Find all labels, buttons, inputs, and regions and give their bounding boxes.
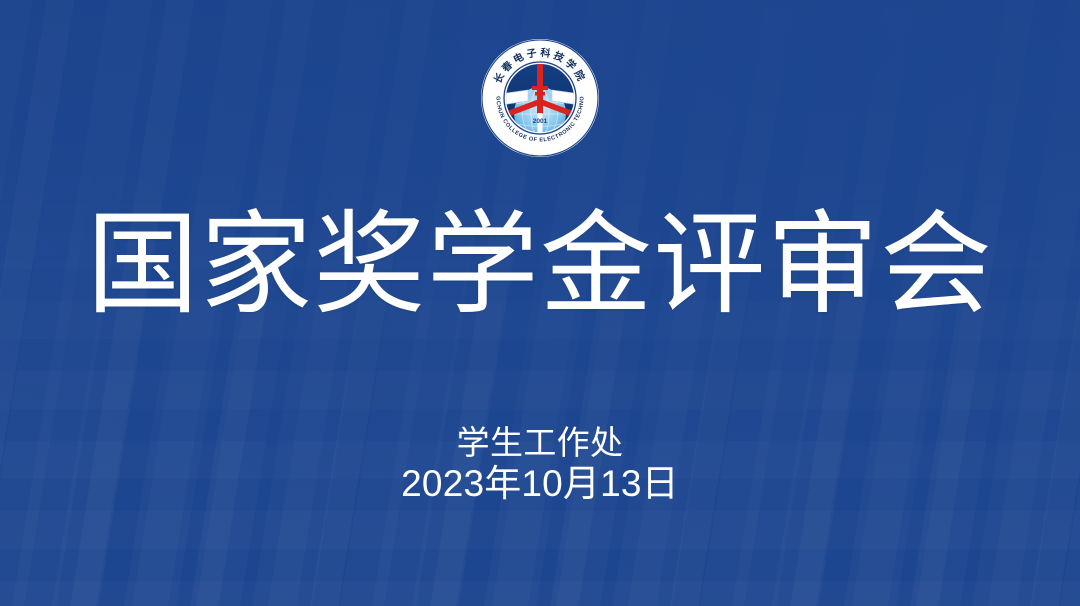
page-title: 国家奖学金评审会	[0, 206, 1080, 325]
school-logo: 2001 长春电子科技学院 CHANGCHUN COLLEGE OF ELECT…	[480, 38, 600, 158]
logo-year: 2001	[533, 118, 548, 125]
presentation-date: 2023年10月13日	[0, 463, 1080, 506]
title-slide: 2001 长春电子科技学院 CHANGCHUN COLLEGE OF ELECT…	[0, 0, 1080, 606]
presenter-organization: 学生工作处	[0, 424, 1080, 463]
subtitle-block: 学生工作处 2023年10月13日	[0, 424, 1080, 506]
